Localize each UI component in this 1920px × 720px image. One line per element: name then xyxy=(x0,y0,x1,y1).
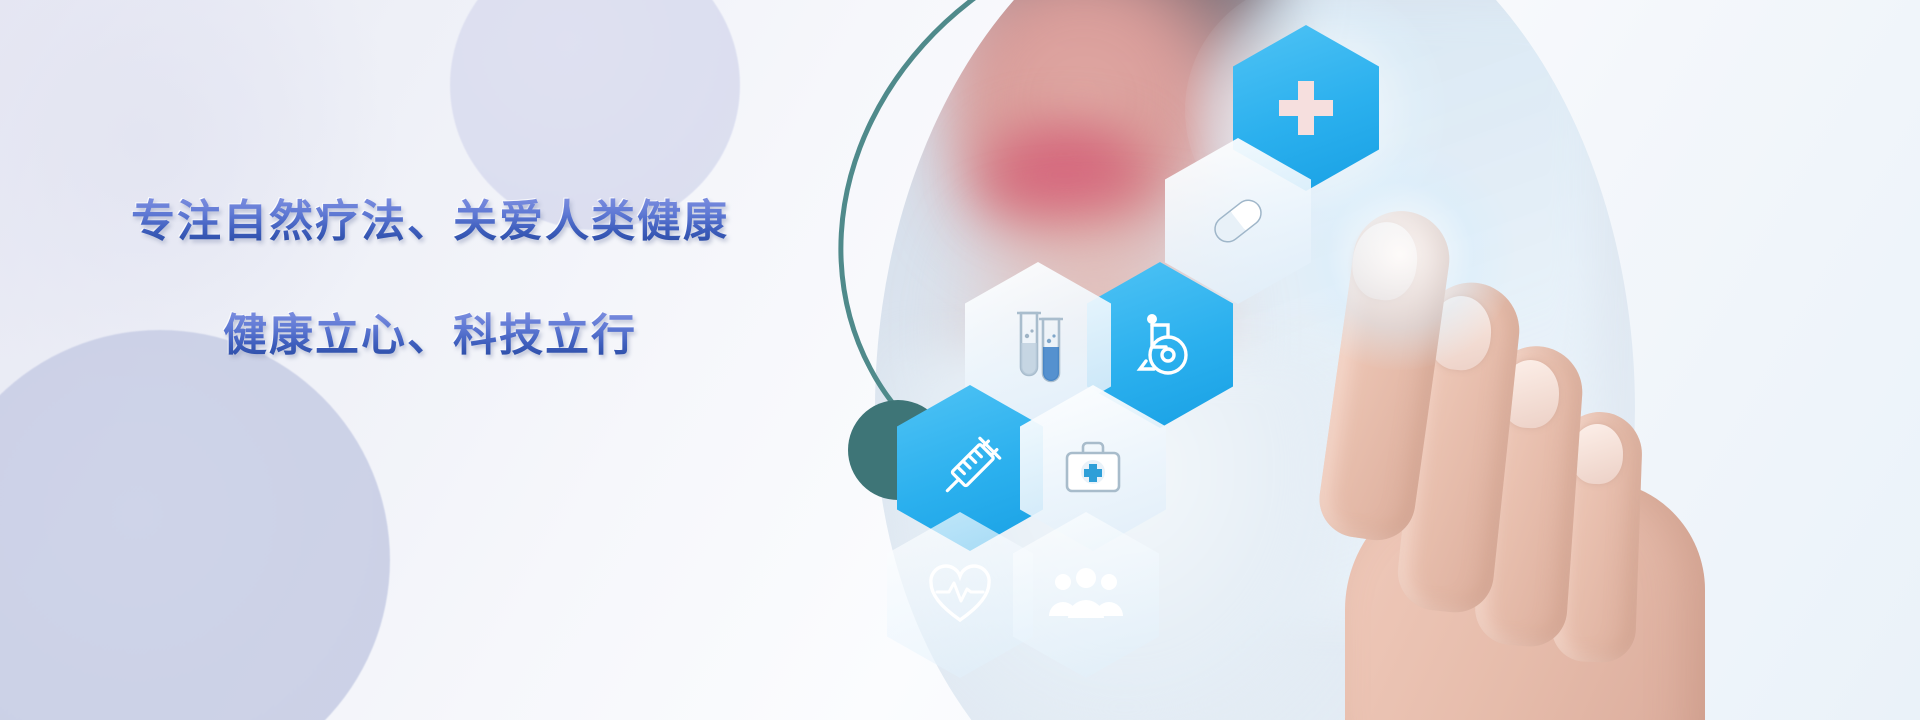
decorative-circle-bottom xyxy=(0,330,390,720)
medical-cross-icon xyxy=(1271,73,1341,143)
headline-line-2: 健康立心、科技立行 xyxy=(0,310,860,362)
headline-block: 专注自然疗法、关爱人类健康 健康立心、科技立行 xyxy=(0,196,860,362)
test-tubes-icon xyxy=(1001,303,1075,387)
headline-line-1: 专注自然疗法、关爱人类健康 xyxy=(0,196,860,248)
hero-banner: 专注自然疗法、关爱人类健康 健康立心、科技立行 xyxy=(0,0,1920,720)
syringe-icon xyxy=(930,428,1010,508)
hero-image-stage xyxy=(835,0,1920,720)
first-aid-kit-icon xyxy=(1055,433,1131,503)
heart-icon xyxy=(925,562,995,628)
people-group-icon xyxy=(1047,564,1125,626)
pill-capsule-icon xyxy=(1199,182,1277,260)
hex-tile-heart[interactable] xyxy=(887,512,1033,678)
hexagon-icon-cluster xyxy=(835,0,1535,720)
wheelchair-icon xyxy=(1122,307,1198,383)
hex-tile-people-group[interactable] xyxy=(1013,512,1159,678)
